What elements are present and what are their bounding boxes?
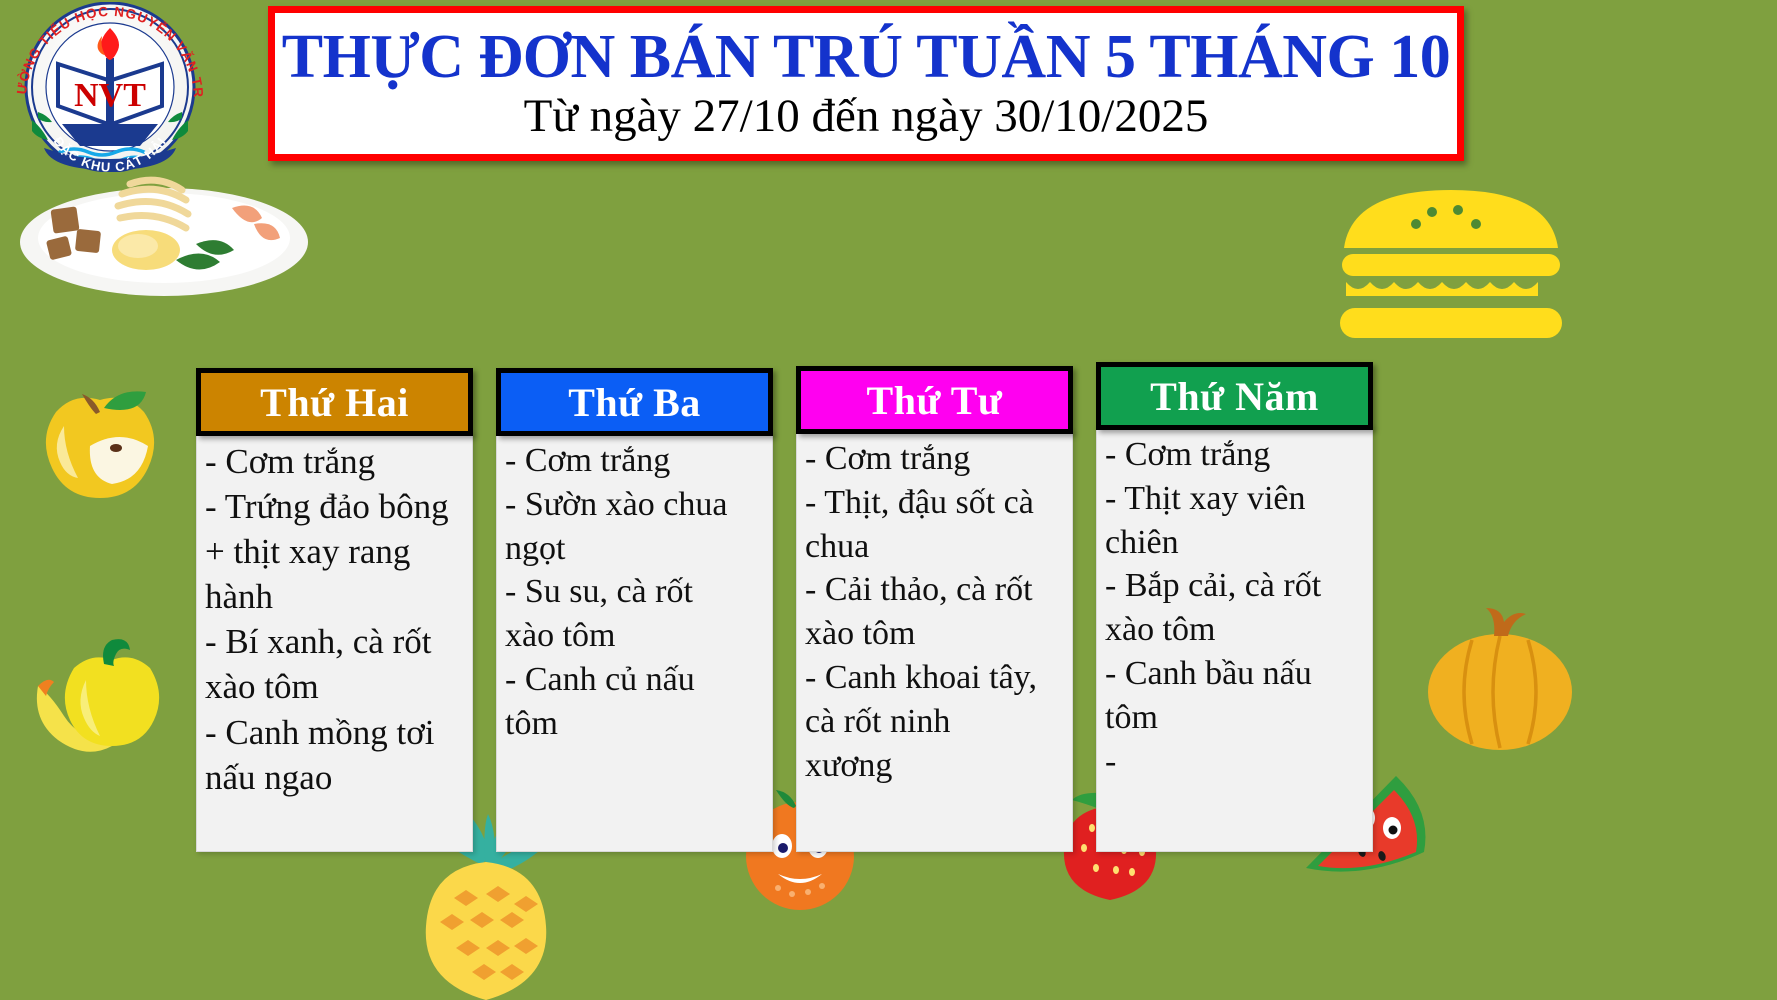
dish-list-monday: - Cơm trắng - Trứng đảo bông + thịt xay … — [196, 432, 473, 852]
weekly-menu-grid: Thứ Hai - Cơm trắng - Trứng đảo bông + t… — [196, 362, 1386, 852]
logo-arc-top-text: TRƯỜNG TIỂU HỌC NGUYỄN VĂN TRỖI — [4, 2, 206, 99]
dish-line: - Su su, cà rốt — [505, 571, 766, 614]
date-range-subtitle: Từ ngày 27/10 đến ngày 30/10/2025 — [524, 91, 1209, 143]
logo-monogram: NVT — [74, 77, 146, 114]
dish-line: - Cơm trắng — [1105, 434, 1366, 477]
school-logo: NVT TRƯỜNG TIỂU HỌC NGUYỄN VĂN TRỖI ĐẶC … — [4, 2, 216, 172]
day-label-tuesday: Thứ Ba — [568, 379, 701, 426]
dish-line: - Bắp cải, cà rốt — [1105, 565, 1366, 608]
dish-line: - Sườn xào chua — [505, 484, 766, 527]
dish-line: - Cơm trắng — [805, 438, 1066, 481]
bell-pepper-and-banana-icon — [30, 620, 170, 760]
dish-line: xào tôm — [205, 665, 466, 709]
page-title: THỰC ĐƠN BÁN TRÚ TUẦN 5 THÁNG 10 — [282, 26, 1450, 89]
dish-line: xào tôm — [1105, 609, 1366, 652]
dish-line: - — [1105, 741, 1366, 784]
day-header-thursday: Thứ Năm — [1096, 362, 1373, 430]
dish-line: - Thịt xay viên — [1105, 478, 1366, 521]
logo-arc-bottom-text: ĐẶC KHU CÁT HẢI — [51, 134, 170, 172]
day-label-monday: Thứ Hai — [260, 379, 409, 426]
burger-icon — [1336, 186, 1566, 344]
dish-line: nấu ngao — [205, 756, 466, 800]
dish-line: cà rốt ninh — [805, 701, 1066, 744]
menu-poster: NVT TRƯỜNG TIỂU HỌC NGUYỄN VĂN TRỖI ĐẶC … — [0, 0, 1777, 1000]
title-banner: THỰC ĐƠN BÁN TRÚ TUẦN 5 THÁNG 10 Từ ngày… — [268, 6, 1464, 161]
dish-line: - Canh mồng tơi — [205, 711, 466, 755]
dish-line: tôm — [1105, 697, 1366, 740]
dish-list-wednesday: - Cơm trắng - Thịt, đậu sốt cà chua - Cả… — [796, 430, 1073, 852]
apple-icon — [38, 390, 166, 500]
day-column-wednesday: Thứ Tư - Cơm trắng - Thịt, đậu sốt cà ch… — [796, 362, 1073, 852]
dish-line: - Canh củ nấu — [505, 659, 766, 702]
dish-line: chua — [805, 526, 1066, 569]
dish-line: tôm — [505, 703, 766, 746]
dish-line: - Cải thảo, cà rốt — [805, 569, 1066, 612]
day-column-tuesday: Thứ Ba - Cơm trắng - Sườn xào chua ngọt … — [496, 362, 773, 852]
plate-of-food-icon — [18, 168, 310, 298]
dish-line: xương — [805, 745, 1066, 788]
dish-line: - Canh khoai tây, — [805, 657, 1066, 700]
dish-line: hành — [205, 575, 466, 619]
day-header-tuesday: Thứ Ba — [496, 368, 773, 436]
day-label-wednesday: Thứ Tư — [867, 377, 1003, 424]
dish-line: - Thịt, đậu sốt cà — [805, 482, 1066, 525]
dish-list-thursday: - Cơm trắng - Thịt xay viên chiên - Bắp … — [1096, 426, 1373, 852]
dish-line: + thịt xay rang — [205, 530, 466, 574]
dish-line: xào tôm — [805, 613, 1066, 656]
dish-line: chiên — [1105, 522, 1366, 565]
day-column-monday: Thứ Hai - Cơm trắng - Trứng đảo bông + t… — [196, 362, 473, 852]
dish-line: xào tôm — [505, 615, 766, 658]
dish-line: - Cơm trắng — [205, 440, 466, 484]
dish-line: - Cơm trắng — [505, 440, 766, 483]
day-column-thursday: Thứ Năm - Cơm trắng - Thịt xay viên chiê… — [1096, 362, 1373, 852]
dish-line: - Bí xanh, cà rốt — [205, 620, 466, 664]
pumpkin-icon — [1420, 600, 1580, 760]
day-label-thursday: Thứ Năm — [1150, 373, 1319, 420]
dish-line: - Trứng đảo bông — [205, 485, 466, 529]
dish-line: - Canh bầu nấu — [1105, 653, 1366, 696]
dish-line: ngọt — [505, 528, 766, 571]
day-header-monday: Thứ Hai — [196, 368, 473, 436]
dish-list-tuesday: - Cơm trắng - Sườn xào chua ngọt - Su su… — [496, 432, 773, 852]
day-header-wednesday: Thứ Tư — [796, 366, 1073, 434]
